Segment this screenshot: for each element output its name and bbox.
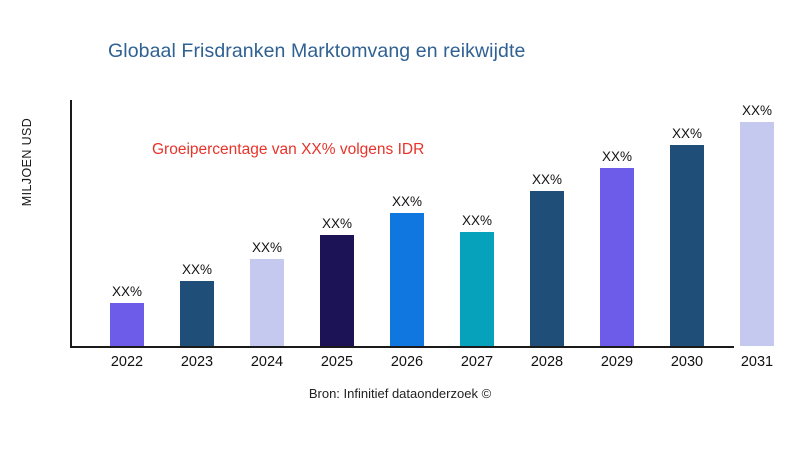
- bar[interactable]: [460, 232, 494, 346]
- bar-value-label: XX%: [516, 172, 578, 187]
- bar[interactable]: [180, 281, 214, 346]
- bar[interactable]: [740, 122, 774, 346]
- bar-value-label: XX%: [726, 103, 788, 118]
- x-axis-tick-label: 2031: [726, 354, 788, 370]
- bar-value-label: XX%: [166, 262, 228, 277]
- bar-value-label: XX%: [376, 194, 438, 209]
- x-axis-tick-label: 2029: [586, 354, 648, 370]
- bar-chart: Globaal Frisdranken Marktomvang en reikw…: [0, 0, 800, 450]
- x-axis-tick-label: 2030: [656, 354, 718, 370]
- x-axis-tick-label: 2028: [516, 354, 578, 370]
- chart-title: Globaal Frisdranken Marktomvang en reikw…: [0, 40, 800, 63]
- x-axis-line: [70, 346, 734, 348]
- bar[interactable]: [600, 168, 634, 346]
- bar-value-label: XX%: [306, 216, 368, 231]
- bar[interactable]: [530, 191, 564, 346]
- bar-value-label: XX%: [236, 240, 298, 255]
- bar[interactable]: [250, 259, 284, 346]
- x-axis-tick-label: 2023: [166, 354, 228, 370]
- plot-area: XX%XX%XX%XX%XX%XX%XX%XX%XX%XX%: [70, 100, 733, 346]
- bar-value-label: XX%: [446, 213, 508, 228]
- bar[interactable]: [670, 145, 704, 346]
- bar-value-label: XX%: [656, 126, 718, 141]
- x-axis-tick-label: 2022: [96, 354, 158, 370]
- x-axis-tick-label: 2027: [446, 354, 508, 370]
- bar[interactable]: [320, 235, 354, 346]
- x-axis-tick-label: 2026: [376, 354, 438, 370]
- x-axis-tick-label: 2025: [306, 354, 368, 370]
- bar-value-label: XX%: [586, 149, 648, 164]
- bar[interactable]: [110, 303, 144, 346]
- x-axis-tick-label: 2024: [236, 354, 298, 370]
- y-axis-label: MILJOEN USD: [20, 72, 34, 252]
- bar[interactable]: [390, 213, 424, 346]
- bar-value-label: XX%: [96, 284, 158, 299]
- source-caption: Bron: Infinitief dataonderzoek ©: [0, 386, 800, 401]
